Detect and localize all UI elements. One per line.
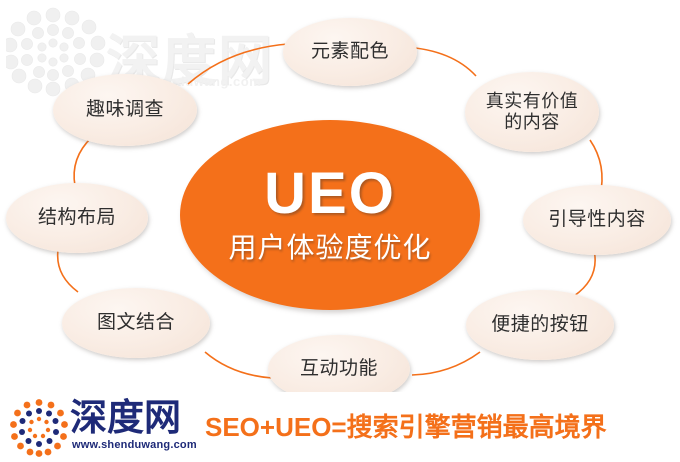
core-subtitle: 用户体验度优化 (228, 226, 431, 266)
arc-survey-to-color (188, 44, 288, 84)
bubble-text-image-mix[interactable]: 图文结合 (62, 288, 210, 358)
logo-brand-text: 深度网 (70, 399, 181, 436)
arc-inter-to-mix (205, 352, 272, 378)
footer-bar: 深度网 www.shenduwang.com SEO+UEO=搜索引擎营销最高境… (0, 392, 680, 462)
bubble-guiding-content[interactable]: 引导性内容 (523, 185, 671, 255)
bubble-label: 引导性内容 (542, 209, 652, 231)
bubble-label: 元素配色 (305, 41, 395, 63)
brand-logo[interactable]: 深度网 www.shenduwang.com (10, 395, 188, 457)
arc-struct-to-survey (74, 137, 92, 186)
footer-tagline: SEO+UEO=搜索引擎营销最高境界 (205, 407, 607, 444)
core-title: UEO (264, 164, 396, 223)
bubble-label: 趣味调查 (80, 99, 170, 121)
radial-dots-logo-icon (10, 399, 68, 457)
diagram-canvas: 深度网 www.shenduwang.com UEO 用户体验度优化 元素配色 … (0, 0, 680, 462)
core-ellipse: UEO 用户体验度优化 (180, 120, 480, 310)
bubble-label: 便捷的按钮 (485, 314, 595, 336)
logo-url-text: www.shenduwang.com (72, 439, 197, 451)
bubble-label: 互动功能 (294, 358, 384, 380)
arc-guide-to-button (574, 250, 595, 296)
bubble-valuable-content[interactable]: 真实有价值 的内容 (465, 72, 599, 152)
bubble-label-line2: 的内容 (504, 112, 560, 132)
bubble-element-color[interactable]: 元素配色 (283, 18, 417, 86)
arc-button-to-inter (412, 352, 480, 375)
bubble-label: 真实有价值 的内容 (480, 91, 585, 133)
bubble-label: 结构布局 (32, 207, 122, 229)
arc-mix-to-struct (58, 250, 78, 292)
bubble-fun-survey[interactable]: 趣味调查 (53, 74, 197, 146)
bubble-label-line1: 真实有价值 (486, 91, 579, 111)
bubble-structure-layout[interactable]: 结构布局 (6, 183, 148, 253)
bubble-convenient-button[interactable]: 便捷的按钮 (466, 290, 614, 360)
bubble-label: 图文结合 (91, 312, 181, 334)
